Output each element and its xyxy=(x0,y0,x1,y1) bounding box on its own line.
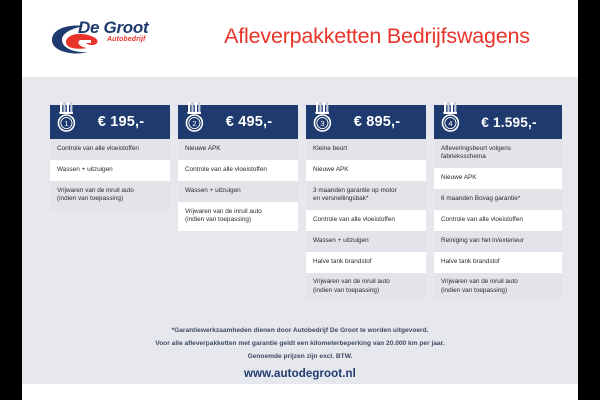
package-feature-item: Wassen + uitzuigen xyxy=(306,231,426,252)
package-feature-item: Kleine beurt xyxy=(306,139,426,160)
package-feature-item: Halve tank brandstof xyxy=(306,252,426,273)
package-feature-item: Vrijwaren van de inruil auto(indien van … xyxy=(434,273,562,302)
company-logo: De Groot Autobedrijf xyxy=(44,18,172,62)
package-feature-item: Wassen + uitzuigen xyxy=(178,181,298,202)
medal-icon: 1 xyxy=(56,102,78,134)
svg-text:4: 4 xyxy=(448,119,452,128)
package-feature-list-1: Controle van alle vloeistoffenWassen + u… xyxy=(50,139,170,210)
disclaimer-block: *Garantiewerkzaamheden dienen door Autob… xyxy=(22,325,578,364)
package-feature-item: Controle van alle vloeistoffen xyxy=(50,139,170,160)
package-cards-container: 1€ 195,-Controle van alle vloeistoffenWa… xyxy=(22,105,578,320)
disclaimer-line-1: *Garantiewerkzaamheden dienen door Autob… xyxy=(22,325,578,338)
package-feature-item: 3 maanden garantie op motoren versnellin… xyxy=(306,181,426,210)
package-feature-list-4: Afleveringsbeurt volgensfabrieksschemaNi… xyxy=(434,139,562,301)
poster-frame: De Groot Autobedrijf Afleverpakketten Be… xyxy=(22,0,578,400)
package-feature-item: Nieuwe APK xyxy=(434,168,562,189)
package-card-4[interactable]: 4€ 1.595,-Afleveringsbeurt volgensfabrie… xyxy=(434,105,562,301)
footer-strip xyxy=(22,384,578,400)
package-feature-item: Controle van alle vloeistoffen xyxy=(434,210,562,231)
package-feature-item: Controle van alle vloeistoffen xyxy=(178,160,298,181)
package-feature-item: Afleveringsbeurt volgensfabrieksschema xyxy=(434,139,562,168)
package-header-4: 4€ 1.595,- xyxy=(434,105,562,139)
header-bar: De Groot Autobedrijf Afleverpakketten Be… xyxy=(22,0,578,77)
logo-subtitle-text: Autobedrijf xyxy=(107,36,145,43)
package-feature-item: 6 maanden Bovag garantie* xyxy=(434,189,562,210)
medal-icon: 2 xyxy=(184,102,206,134)
package-card-3[interactable]: 3€ 895,-Kleine beurtNieuwe APK3 maanden … xyxy=(306,105,426,301)
svg-text:3: 3 xyxy=(320,119,324,128)
package-feature-item: Vrijwaren van de inruil auto(indien van … xyxy=(50,181,170,210)
package-header-3: 3€ 895,- xyxy=(306,105,426,139)
svg-text:2: 2 xyxy=(192,119,196,128)
medal-icon: 3 xyxy=(312,102,334,134)
package-card-1[interactable]: 1€ 195,-Controle van alle vloeistoffenWa… xyxy=(50,105,170,210)
package-card-2[interactable]: 2€ 495,-Nieuwe APKControle van alle vloe… xyxy=(178,105,298,231)
svg-text:1: 1 xyxy=(64,119,68,128)
package-feature-item: Halve tank brandstof xyxy=(434,252,562,273)
disclaimer-line-2: Voor alle afleverpakketten met garantie … xyxy=(22,338,578,351)
logo-brand-text: De Groot xyxy=(78,18,148,38)
package-feature-item: Vrijwaren van de inruil auto(indien van … xyxy=(178,202,298,231)
package-feature-item: Nieuwe APK xyxy=(306,160,426,181)
package-feature-item: Wassen + uitzuigen xyxy=(50,160,170,181)
package-feature-item: Nieuwe APK xyxy=(178,139,298,160)
package-feature-list-3: Kleine beurtNieuwe APK3 maanden garantie… xyxy=(306,139,426,301)
website-link[interactable]: www.autodegroot.nl xyxy=(22,368,578,380)
package-feature-item: Reiniging van het in/exterieur xyxy=(434,231,562,252)
page-title: Afleverpakketten Bedrijfswagens xyxy=(182,24,572,49)
package-header-1: 1€ 195,- xyxy=(50,105,170,139)
disclaimer-line-3: Genoemde prijzen zijn excl. BTW. xyxy=(22,351,578,364)
medal-icon: 4 xyxy=(440,102,462,134)
package-feature-item: Vrijwaren van de inruil auto(indien van … xyxy=(306,273,426,302)
package-feature-item: Controle van alle vloeistoffen xyxy=(306,210,426,231)
package-feature-list-2: Nieuwe APKControle van alle vloeistoffen… xyxy=(178,139,298,231)
package-header-2: 2€ 495,- xyxy=(178,105,298,139)
